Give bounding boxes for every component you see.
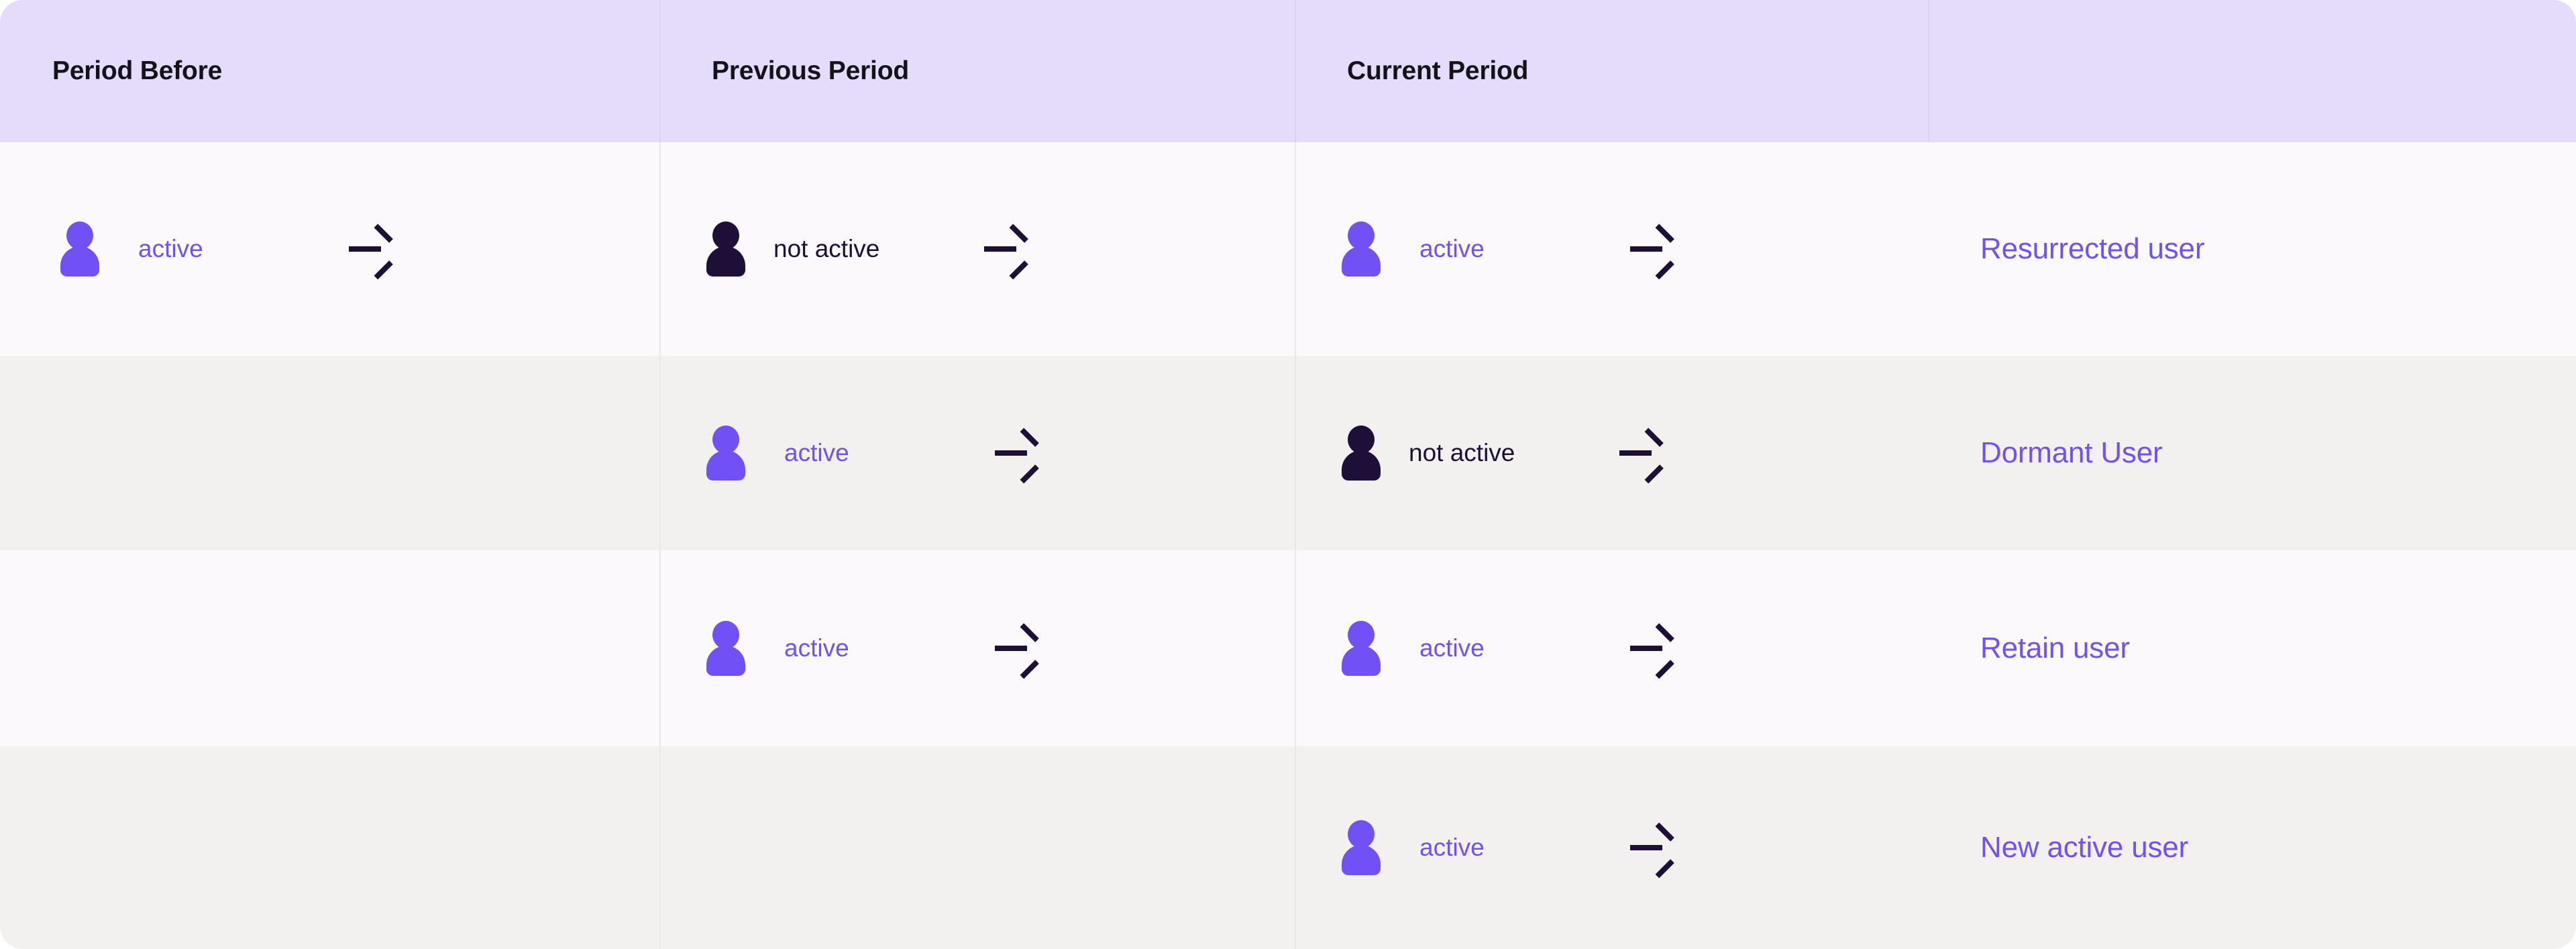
person-head xyxy=(712,221,739,250)
person-head xyxy=(712,621,739,649)
arrow-shaft xyxy=(1630,246,1662,252)
table-row: active active xyxy=(0,550,2576,746)
user-lifecycle-table: Period Before Previous Period Current Pe… xyxy=(0,0,2576,949)
person-icon xyxy=(1342,221,1381,277)
state-label: active xyxy=(757,634,972,662)
arrow-head-upper xyxy=(1020,623,1039,642)
table-body: active not active xyxy=(0,142,2576,949)
arrow-right-icon xyxy=(1630,832,1674,863)
person-icon xyxy=(1342,621,1381,676)
state-label: active xyxy=(111,235,326,263)
column-header-label: Previous Period xyxy=(712,56,909,86)
arrow-head-upper xyxy=(1020,428,1039,447)
arrow-shaft xyxy=(1630,845,1662,850)
table-row: active New active user xyxy=(0,746,2576,949)
arrow-head-upper xyxy=(1645,428,1664,447)
arrow-head-lower xyxy=(1020,660,1039,679)
cell-outcome: Dormant User xyxy=(1928,356,2576,550)
arrow-right-icon xyxy=(1619,438,1664,468)
arrow-head-lower xyxy=(1010,260,1028,279)
cell-previous-period: active xyxy=(659,550,1295,746)
arrow-head-lower xyxy=(1020,464,1039,483)
state-label: active xyxy=(757,439,972,467)
column-header-label: Current Period xyxy=(1347,56,1528,86)
cell-current-period: active xyxy=(1295,550,1928,746)
cell-current-period: not active xyxy=(1295,356,1928,550)
state-label: not active xyxy=(1393,439,1597,467)
person-icon xyxy=(706,221,745,277)
arrow-head-lower xyxy=(374,260,393,279)
arrow-head-upper xyxy=(1656,224,1674,243)
column-header-label: Period Before xyxy=(52,56,222,86)
arrow-right-icon xyxy=(995,633,1039,664)
state-group: active xyxy=(1295,221,1928,277)
person-body xyxy=(706,246,745,277)
arrow-head-upper xyxy=(1656,623,1674,642)
person-body xyxy=(1342,450,1381,481)
arrow-head-upper xyxy=(374,224,393,243)
person-icon xyxy=(1342,426,1381,481)
arrow-right-icon xyxy=(1630,633,1674,664)
outcome-label: New active user xyxy=(1928,831,2188,864)
state-group: active xyxy=(659,426,1295,481)
person-head xyxy=(1348,426,1375,454)
person-head xyxy=(712,426,739,454)
table-row: active not active xyxy=(0,142,2576,356)
cell-outcome: Resurrected user xyxy=(1928,142,2576,356)
person-body xyxy=(1342,845,1381,875)
cell-previous-period xyxy=(659,746,1295,949)
cell-period-before xyxy=(0,746,659,949)
state-label: active xyxy=(1393,634,1607,662)
cell-previous-period: active xyxy=(659,356,1295,550)
arrow-right-icon xyxy=(984,234,1028,264)
person-head xyxy=(1348,221,1375,250)
cell-current-period: active xyxy=(1295,746,1928,949)
state-group: not active xyxy=(1295,426,1928,481)
cell-period-before xyxy=(0,356,659,550)
cell-current-period: active xyxy=(1295,142,1928,356)
arrow-right-icon xyxy=(1630,234,1674,264)
person-icon xyxy=(1342,820,1381,875)
column-header-previous-period: Previous Period xyxy=(659,0,1295,142)
state-label: not active xyxy=(757,235,961,263)
person-head xyxy=(1348,621,1375,649)
arrow-shaft xyxy=(995,450,1027,456)
cell-outcome: Retain user xyxy=(1928,550,2576,746)
arrow-right-icon xyxy=(995,438,1039,468)
cell-outcome: New active user xyxy=(1928,746,2576,949)
column-header-period-before: Period Before xyxy=(0,0,659,142)
person-body xyxy=(60,246,99,277)
table-row: active not active xyxy=(0,356,2576,550)
state-label: active xyxy=(1393,235,1607,263)
state-group: active xyxy=(0,221,659,277)
column-header-outcome xyxy=(1928,0,2576,142)
arrow-head-upper xyxy=(1010,224,1028,243)
cell-previous-period: not active xyxy=(659,142,1295,356)
person-icon xyxy=(60,221,99,277)
cell-period-before xyxy=(0,550,659,746)
arrow-shaft xyxy=(1630,646,1662,651)
state-label: active xyxy=(1393,834,1607,862)
arrow-head-lower xyxy=(1656,859,1674,878)
outcome-label: Resurrected user xyxy=(1928,232,2204,266)
table-header-row: Period Before Previous Period Current Pe… xyxy=(0,0,2576,142)
outcome-label: Dormant User xyxy=(1928,436,2162,470)
state-group: active xyxy=(1295,621,1928,676)
arrow-right-icon xyxy=(349,234,393,264)
state-group: active xyxy=(659,621,1295,676)
person-icon xyxy=(706,426,745,481)
arrow-head-upper xyxy=(1656,823,1674,842)
outcome-label: Retain user xyxy=(1928,632,2130,665)
person-body xyxy=(706,646,745,676)
person-body xyxy=(706,450,745,481)
state-group: not active xyxy=(659,221,1295,277)
person-head xyxy=(66,221,93,250)
person-head xyxy=(1348,820,1375,848)
arrow-shaft xyxy=(984,246,1016,252)
arrow-head-lower xyxy=(1656,260,1674,279)
state-group: active xyxy=(1295,820,1928,875)
person-body xyxy=(1342,646,1381,676)
cell-period-before: active xyxy=(0,142,659,356)
column-header-current-period: Current Period xyxy=(1295,0,1928,142)
arrow-shaft xyxy=(995,646,1027,651)
arrow-shaft xyxy=(1619,450,1652,456)
person-icon xyxy=(706,621,745,676)
arrow-head-lower xyxy=(1656,660,1674,679)
person-body xyxy=(1342,246,1381,277)
arrow-head-lower xyxy=(1645,464,1664,483)
arrow-shaft xyxy=(349,246,381,252)
